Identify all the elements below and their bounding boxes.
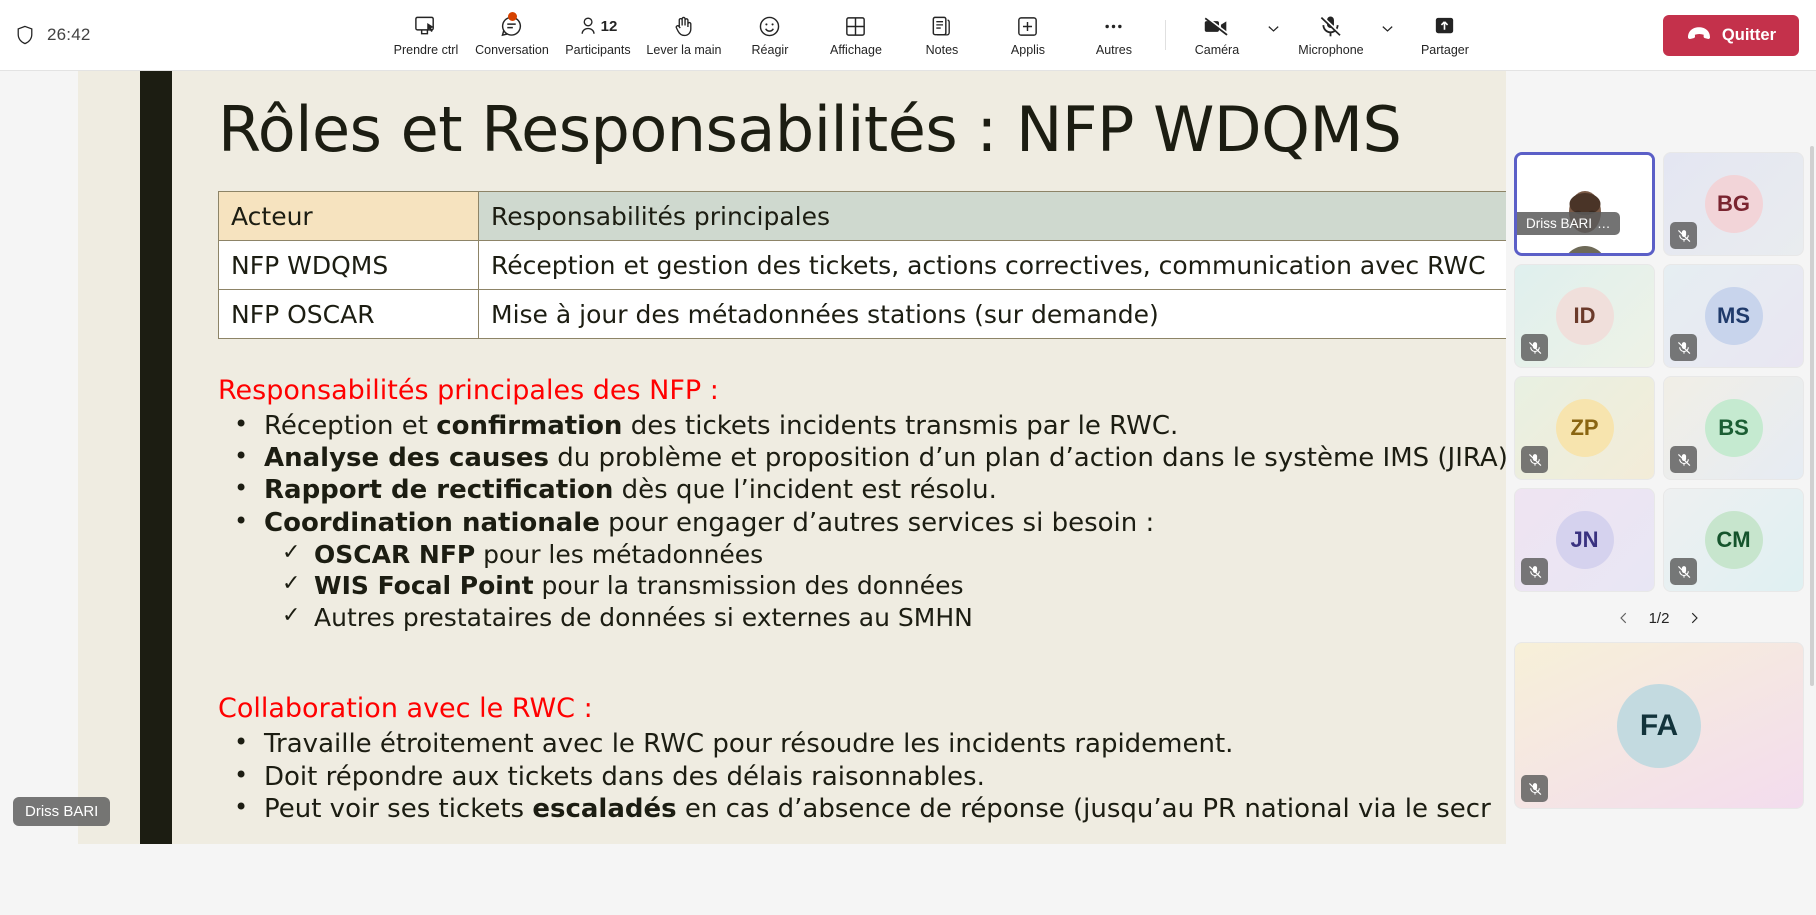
microphone-button[interactable]: Microphone [1288, 4, 1374, 66]
more-ellipsis-icon [1101, 13, 1126, 40]
participant-roster: Driss BARI … BG ID [1506, 142, 1816, 915]
camera-group: Caméra [1174, 4, 1288, 66]
mic-off-icon [1521, 334, 1548, 361]
meeting-toolbar: 26:42 Prendre ctrl Conversation [0, 0, 1816, 71]
list-item: Coordination nationale pour engager d’au… [218, 507, 1506, 539]
participant-tile-cm[interactable]: CM [1663, 488, 1804, 592]
apps-plus-icon [1015, 13, 1040, 40]
slide-accent-bar [140, 71, 172, 844]
avatar-initials: MS [1717, 303, 1750, 329]
apps-button[interactable]: Applis [985, 4, 1071, 66]
section-heading-nfp: Responsabilités principales des NFP : [218, 375, 1506, 406]
avatar-initials: CM [1716, 527, 1750, 553]
notes-icon [929, 13, 954, 40]
mic-off-icon [1670, 334, 1697, 361]
list-item: Doit répondre aux tickets dans des délai… [218, 761, 1506, 793]
list-item: Peut voir ses tickets escaladés en cas d… [218, 793, 1506, 825]
apps-label: Applis [1011, 43, 1045, 57]
list-item: Réception et confirmation des tickets in… [218, 410, 1506, 442]
mic-off-icon [1521, 558, 1548, 585]
slide-content: Rôles et Responsabilités : NFP WDQMS Act… [218, 71, 1506, 844]
participant-grid: Driss BARI … BG ID [1514, 152, 1804, 592]
participant-tile-self[interactable]: Driss BARI … [1514, 152, 1655, 256]
list-item: Autres prestataires de données si extern… [278, 602, 1506, 634]
take-control-icon [413, 13, 438, 40]
participant-tile-spotlight[interactable]: FA [1514, 642, 1804, 809]
avatar: BS [1705, 399, 1763, 457]
sub-bullet-list: OSCAR NFP pour les métadonnées WIS Focal… [278, 539, 1506, 634]
avatar-initials: BS [1718, 415, 1749, 441]
microphone-group: Microphone [1288, 4, 1402, 66]
avatar-initials: ID [1574, 303, 1596, 329]
react-label: Réagir [752, 43, 789, 57]
table-row: NFP OSCAR Mise à jour des métadonnées st… [219, 290, 1507, 339]
list-item: Travaille étroitement avec le RWC pour r… [218, 728, 1506, 760]
share-label: Partager [1421, 43, 1469, 57]
self-video-feed [1517, 155, 1652, 253]
meeting-timer: 26:42 [47, 25, 91, 45]
list-item: Analyse des causes du problème et propos… [218, 442, 1506, 474]
mic-off-icon [1670, 446, 1697, 473]
pager-label: 1/2 [1649, 610, 1670, 627]
view-button[interactable]: Affichage [813, 4, 899, 66]
participants-label: Participants [565, 43, 630, 57]
presenter-name-badge: Driss BARI [13, 797, 110, 826]
meeting-stage: Rôles et Responsabilités : NFP WDQMS Act… [0, 71, 1816, 844]
list-item: Rapport de rectification dès que l’incid… [218, 474, 1506, 506]
table-cell-resp: Réception et gestion des tickets, action… [479, 241, 1507, 290]
hangup-icon [1686, 25, 1712, 46]
tile-name-label: Driss BARI … [1517, 212, 1620, 235]
toolbar-left-group: 26:42 [14, 23, 224, 47]
participant-tile-bs[interactable]: BS [1663, 376, 1804, 480]
mic-off-icon [1318, 13, 1343, 40]
roster-scrollbar[interactable] [1810, 146, 1814, 686]
participants-count: 12 [601, 18, 618, 35]
bullet-list-rwc: Travaille étroitement avec le RWC pour r… [218, 728, 1506, 825]
avatar: FA [1617, 684, 1701, 768]
take-control-button[interactable]: Prendre ctrl [383, 4, 469, 66]
table-header-acteur: Acteur [219, 192, 479, 241]
people-icon: 12 [579, 13, 618, 40]
table-cell-actor: NFP OSCAR [219, 290, 479, 339]
list-item: WIS Focal Point pour la transmission des… [278, 570, 1506, 602]
leave-call-label: Quitter [1722, 26, 1776, 45]
avatar-initials: FA [1640, 709, 1678, 743]
table-cell-actor: NFP WDQMS [219, 241, 479, 290]
more-button[interactable]: Autres [1071, 4, 1157, 66]
avatar: MS [1705, 287, 1763, 345]
avatar: ID [1556, 287, 1614, 345]
notes-label: Notes [926, 43, 959, 57]
bullet-list-nfp: Réception et confirmation des tickets in… [218, 410, 1506, 539]
chevron-right-icon[interactable] [1683, 607, 1705, 629]
avatar: JN [1556, 511, 1614, 569]
participant-tile-zp[interactable]: ZP [1514, 376, 1655, 480]
shared-slide[interactable]: Rôles et Responsabilités : NFP WDQMS Act… [78, 71, 1506, 844]
roster-pager: 1/2 [1514, 604, 1804, 632]
participant-tile-bg[interactable]: BG [1663, 152, 1804, 256]
participant-tile-ms[interactable]: MS [1663, 264, 1804, 368]
mic-off-icon [1670, 222, 1697, 249]
chat-button[interactable]: Conversation [469, 4, 555, 66]
avatar-initials: ZP [1570, 415, 1598, 441]
avatar-initials: BG [1717, 191, 1750, 217]
camera-chevron-down-icon[interactable] [1260, 4, 1288, 52]
table-cell-resp: Mise à jour des métadonnées stations (su… [479, 290, 1507, 339]
participant-tile-jn[interactable]: JN [1514, 488, 1655, 592]
slide-title: Rôles et Responsabilités : NFP WDQMS [218, 99, 1506, 161]
camera-label: Caméra [1195, 43, 1239, 57]
avatar-initials: JN [1570, 527, 1598, 553]
react-button[interactable]: Réagir [727, 4, 813, 66]
chevron-left-icon[interactable] [1613, 607, 1635, 629]
view-label: Affichage [830, 43, 882, 57]
camera-off-icon [1203, 13, 1230, 40]
table-header-responsabilites: Responsabilités principales [479, 192, 1507, 241]
chat-label: Conversation [475, 43, 549, 57]
microphone-label: Microphone [1298, 43, 1363, 57]
roles-table: Acteur Responsabilités principales NFP W… [218, 191, 1506, 339]
microphone-chevron-down-icon[interactable] [1374, 4, 1402, 52]
raise-hand-button[interactable]: Lever la main [641, 4, 727, 66]
mic-off-icon [1670, 558, 1697, 585]
smiley-icon [757, 13, 782, 40]
shield-icon [14, 23, 36, 47]
table-row: NFP WDQMS Réception et gestion des ticke… [219, 241, 1507, 290]
toolbar-divider [1165, 20, 1166, 50]
tile-overflow-icon[interactable]: … [1597, 216, 1611, 231]
avatar: CM [1705, 511, 1763, 569]
section-heading-rwc: Collaboration avec le RWC : [218, 693, 1506, 724]
camera-button[interactable]: Caméra [1174, 4, 1260, 66]
take-control-label: Prendre ctrl [394, 43, 459, 57]
share-button[interactable]: Partager [1402, 4, 1488, 66]
raise-hand-label: Lever la main [646, 43, 721, 57]
mic-off-icon [1521, 446, 1548, 473]
grid-view-icon [843, 13, 868, 40]
participants-button[interactable]: 12 Participants [555, 4, 641, 66]
avatar: ZP [1556, 399, 1614, 457]
table-header-row: Acteur Responsabilités principales [219, 192, 1507, 241]
leave-call-button[interactable]: Quitter [1663, 15, 1799, 56]
avatar: BG [1705, 175, 1763, 233]
list-item: OSCAR NFP pour les métadonnées [278, 539, 1506, 571]
participant-tile-id[interactable]: ID [1514, 264, 1655, 368]
raise-hand-icon [671, 13, 696, 40]
share-screen-icon [1432, 13, 1457, 40]
notes-button[interactable]: Notes [899, 4, 985, 66]
mic-off-icon [1521, 775, 1548, 802]
toolbar-actions: Prendre ctrl Conversation 12 Participant… [224, 4, 1647, 66]
chat-bubble-icon [499, 13, 524, 40]
more-label: Autres [1096, 43, 1132, 57]
